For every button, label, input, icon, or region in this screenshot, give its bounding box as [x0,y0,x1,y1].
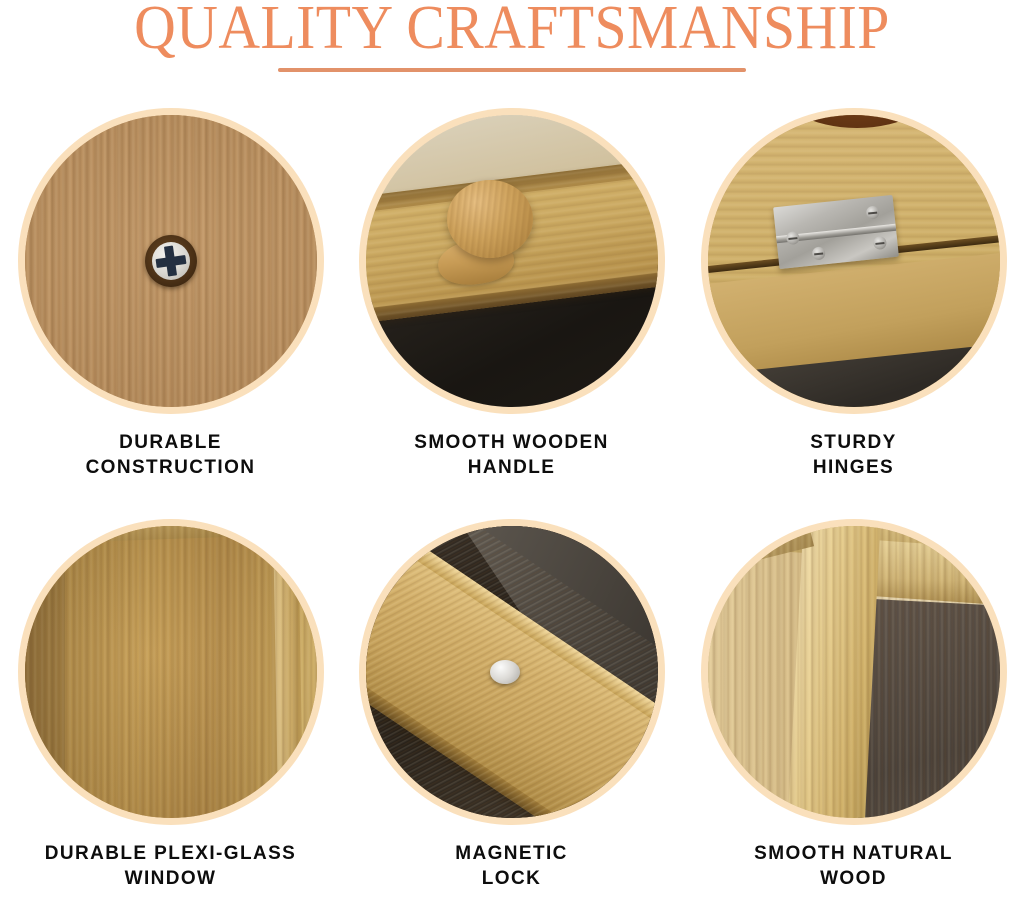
hinge-screw [786,231,800,245]
feature-grid: DURABLE CONSTRUCTION [0,96,1024,918]
image-clip [25,115,317,407]
caption-line-2: HANDLE [341,455,682,480]
feature-image-sturdy-hinges [701,108,1007,414]
caption-line-1: SMOOTH WOODEN [341,430,682,455]
caption-line-1: MAGNETIC [341,841,682,866]
wood-grain-icon [708,526,1000,818]
feature-image-magnetic-lock [359,519,665,825]
hinge-screw [866,206,880,220]
feature-caption-smooth-natural-wood: SMOOTH NATURAL WOOD [683,841,1024,891]
caption-line-1: DURABLE PLEXI-GLASS [0,841,341,866]
feature-image-smooth-natural-wood [701,519,1007,825]
caption-line-2: WINDOW [0,866,341,891]
feature-cell-durable-plexi-glass-window: DURABLE PLEXI-GLASS WINDOW [0,507,341,918]
feature-image-smooth-wooden-handle [359,108,665,414]
hinge-screw [812,247,826,261]
image-clip [708,526,1000,818]
caption-line-2: WOOD [683,866,1024,891]
title-divider [278,68,746,72]
page-title: QUALITY CRAFTSMANSHIP [36,0,988,60]
feature-caption-smooth-wooden-handle: SMOOTH WOODEN HANDLE [341,430,682,480]
feature-cell-durable-construction: DURABLE CONSTRUCTION [0,96,341,507]
image-clip [366,526,658,818]
magnet-icon [366,526,658,818]
feature-caption-durable-construction: DURABLE CONSTRUCTION [0,430,341,480]
caption-line-1: SMOOTH NATURAL [683,841,1024,866]
feature-cell-smooth-wooden-handle: SMOOTH WOODEN HANDLE [341,96,682,507]
screw-recess [145,235,197,287]
caption-line-2: HINGES [683,455,1024,480]
feature-cell-magnetic-lock: MAGNETIC LOCK [341,507,682,918]
screw-head [152,242,190,280]
screw-icon [25,115,317,407]
knob-icon [366,115,658,407]
image-clip [708,115,1000,407]
feature-cell-sturdy-hinges: STURDY HINGES [683,96,1024,507]
caption-line-2: LOCK [341,866,682,891]
feature-image-durable-plexi-glass-window [18,519,324,825]
caption-line-1: DURABLE [0,430,341,455]
screw-slot-vertical [164,246,177,277]
image-clip [25,526,317,818]
feature-row-2: DURABLE PLEXI-GLASS WINDOW [0,507,1024,918]
feature-row-1: DURABLE CONSTRUCTION [0,96,1024,507]
feature-caption-durable-plexi-glass-window: DURABLE PLEXI-GLASS WINDOW [0,841,341,891]
glass-shading [25,526,317,818]
window-icon [25,526,317,818]
feature-cell-smooth-natural-wood: SMOOTH NATURAL WOOD [683,507,1024,918]
magnet-disc [490,660,520,684]
hinge-icon [708,115,1000,407]
metal-hinge [774,195,900,269]
feature-caption-sturdy-hinges: STURDY HINGES [683,430,1024,480]
caption-line-2: CONSTRUCTION [0,455,341,480]
wood-grain-overlay [708,526,1000,818]
caption-line-1: STURDY [683,430,1024,455]
image-clip [366,115,658,407]
hinge-screw [873,236,887,250]
feature-caption-magnetic-lock: MAGNETIC LOCK [341,841,682,891]
page-header: QUALITY CRAFTSMANSHIP [0,0,1024,92]
feature-image-durable-construction [18,108,324,414]
